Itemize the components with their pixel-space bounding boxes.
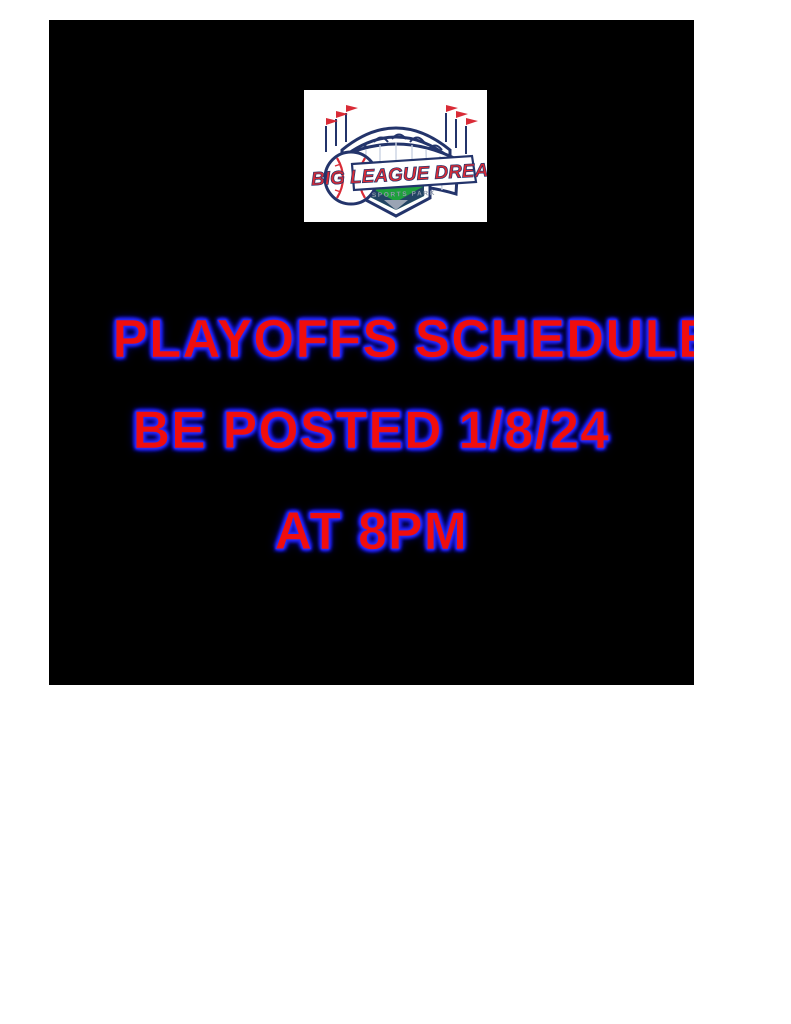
flags-right [446,105,478,125]
flags-left [326,105,358,125]
announcement-panel: BIG LEAGUE DREAMS SPORTS PARK PLAYOFFS S… [49,20,694,685]
announcement-headline: PLAYOFFS SCHEDULE WILL BE POSTED 1/8/24 … [49,312,694,558]
announcement-line-2: BE POSTED 1/8/24 [59,404,685,457]
flyer-page: BIG LEAGUE DREAMS SPORTS PARK PLAYOFFS S… [0,0,791,1024]
logo-artwork: BIG LEAGUE DREAMS SPORTS PARK [304,90,487,222]
announcement-line-3: AT 8PM [59,505,685,558]
announcement-line-1: PLAYOFFS SCHEDULE WILL [113,312,694,366]
big-league-dreams-logo: BIG LEAGUE DREAMS SPORTS PARK [304,90,487,222]
